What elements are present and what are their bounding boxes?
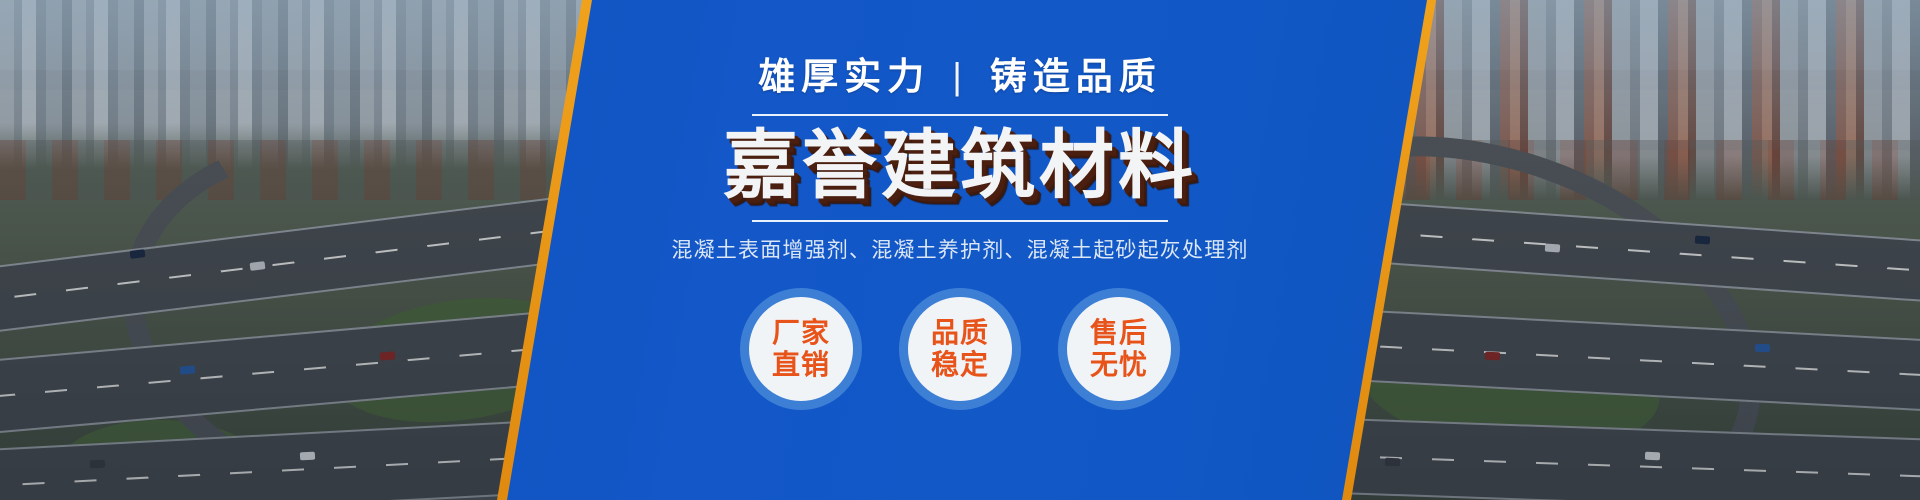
tagline-separator: | bbox=[952, 58, 968, 95]
divider-bottom bbox=[752, 220, 1168, 222]
badge-line-2: 直销 bbox=[772, 349, 830, 380]
divider-top bbox=[752, 114, 1168, 116]
badge-line-2: 无忧 bbox=[1090, 349, 1148, 380]
tagline: 雄厚实力 | 铸造品质 bbox=[758, 58, 1162, 95]
badge-factory-direct: 厂家 直销 bbox=[740, 288, 862, 410]
badge-line-2: 稳定 bbox=[931, 349, 989, 380]
tagline-right: 铸造品质 bbox=[990, 58, 1162, 95]
badge-line-1: 售后 bbox=[1090, 317, 1148, 348]
badge-row: 厂家 直销 品质 稳定 售后 无忧 bbox=[740, 288, 1180, 410]
badge-line-1: 厂家 bbox=[772, 317, 830, 348]
tagline-left: 雄厚实力 bbox=[758, 58, 930, 95]
page-title: 嘉誉建筑材料 bbox=[723, 126, 1197, 206]
badge-line-1: 品质 bbox=[931, 317, 989, 348]
badge-stable-quality: 品质 稳定 bbox=[899, 288, 1021, 410]
banner-content: 雄厚实力 | 铸造品质 嘉誉建筑材料 混凝土表面增强剂、混凝土养护剂、混凝土起砂… bbox=[0, 0, 1920, 500]
promo-banner: 雄厚实力 | 铸造品质 嘉誉建筑材料 混凝土表面增强剂、混凝土养护剂、混凝土起砂… bbox=[0, 0, 1920, 500]
subtitle: 混凝土表面增强剂、混凝土养护剂、混凝土起砂起灰处理剂 bbox=[671, 234, 1248, 264]
badge-after-sales: 售后 无忧 bbox=[1058, 288, 1180, 410]
